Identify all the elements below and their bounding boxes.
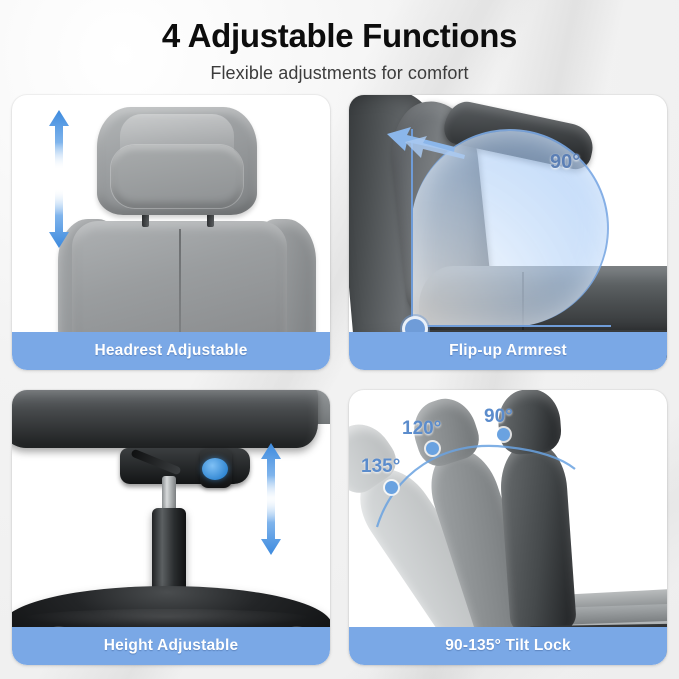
- arrow-down-icon: [48, 187, 70, 249]
- panel-label-text: 90-135° Tilt Lock: [445, 637, 571, 655]
- panel-armrest[interactable]: 90° Flip-up Armrest: [349, 95, 667, 370]
- angle-label-135: 135°: [361, 456, 400, 478]
- headrest-illustration: [12, 95, 330, 370]
- angle-label-90: 90°: [550, 151, 580, 174]
- panel-height[interactable]: Height Adjustable: [12, 390, 330, 665]
- rotation-axis-horizontal: [411, 325, 611, 327]
- page-title: 4 Adjustable Functions: [0, 18, 679, 54]
- armrest-illustration: 90°: [349, 95, 667, 370]
- office-chair-front-view: [62, 103, 312, 343]
- panel-label-text: Headrest Adjustable: [94, 342, 247, 360]
- panel-label-text: Height Adjustable: [104, 637, 239, 655]
- gas-cylinder-piston: [162, 476, 176, 512]
- seat-underside: [12, 390, 318, 448]
- office-chair-side-view: 90°: [349, 95, 667, 370]
- backrest-position-90: [498, 439, 577, 633]
- feature-grid: Headrest Adjustable: [12, 95, 667, 667]
- height-illustration: [12, 390, 330, 665]
- arc-dot-icon-90: [497, 428, 510, 441]
- arrow-up-icon: [48, 109, 70, 171]
- headrest-cushion: [97, 107, 257, 215]
- page-subtitle: Flexible adjustments for comfort: [0, 63, 679, 84]
- angle-label-90: 90°: [484, 406, 513, 428]
- panel-label-headrest: Headrest Adjustable: [12, 332, 330, 370]
- panel-tilt[interactable]: 135° 120° 90° 90-135° Tilt Lock: [349, 390, 667, 665]
- arrow-down-icon: [260, 494, 282, 556]
- panel-label-tilt: 90-135° Tilt Lock: [349, 627, 667, 665]
- arc-dot-icon-120: [426, 442, 439, 455]
- tilt-illustration: 135° 120° 90°: [349, 390, 667, 665]
- arc-dot-icon-135: [385, 481, 398, 494]
- rotation-arrow-secondary-icon: [403, 131, 467, 166]
- infographic-page: 4 Adjustable Functions Flexible adjustme…: [0, 0, 679, 679]
- header: 4 Adjustable Functions Flexible adjustme…: [0, 0, 679, 84]
- office-chair-recline-stack: 135° 120° 90°: [349, 390, 667, 665]
- lever-knob-icon: [202, 458, 228, 480]
- angle-label-120: 120°: [402, 418, 441, 440]
- panel-headrest[interactable]: Headrest Adjustable: [12, 95, 330, 370]
- panel-label-armrest: Flip-up Armrest: [349, 332, 667, 370]
- panel-label-text: Flip-up Armrest: [449, 342, 567, 360]
- panel-label-height: Height Adjustable: [12, 627, 330, 665]
